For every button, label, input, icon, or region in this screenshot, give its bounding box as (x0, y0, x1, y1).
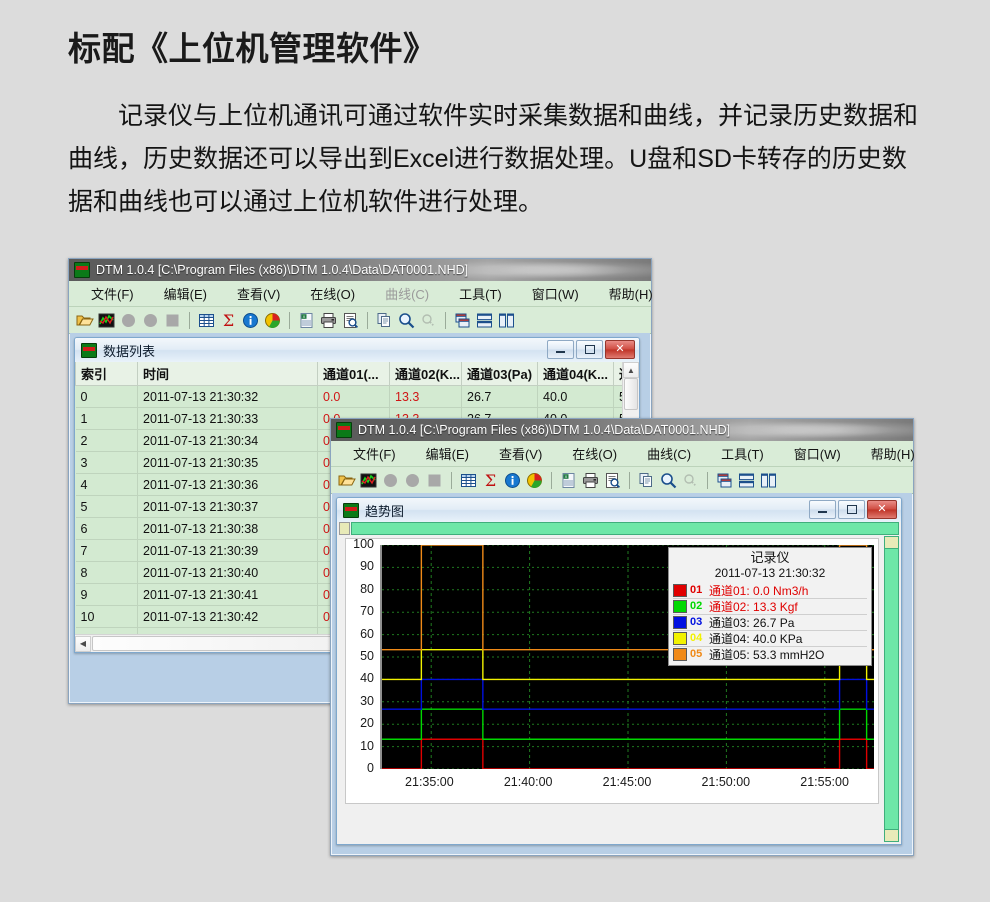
data-list-icon (81, 343, 97, 358)
table-row[interactable]: 02011-07-13 21:30:320.013.326.740.053.3 (76, 386, 623, 408)
row-time: 2011-07-13 21:30:42 (138, 606, 318, 628)
record-start-icon (381, 471, 400, 490)
chart-scroll-top[interactable] (337, 522, 901, 535)
mdi-client-area: 趋势图 ✕ 0102030405060708090100 (332, 493, 912, 854)
trend-chart-icon (343, 503, 359, 518)
chart-vertical-scrollbar[interactable] (884, 536, 899, 842)
svg-text:Σ: Σ (223, 311, 234, 330)
minimize-button[interactable] (809, 500, 836, 519)
row-index: 10 (76, 606, 138, 628)
toolbar-separator (445, 312, 446, 329)
open-file-icon[interactable] (337, 471, 356, 490)
window-titlebar[interactable]: DTM 1.0.4 [C:\Program Files (x86)\DTM 1.… (331, 419, 913, 441)
tool-bar[interactable]: Σ X (331, 467, 913, 494)
sum-sigma-icon[interactable]: Σ (219, 311, 238, 330)
row-time: 2011-07-13 21:30:40 (138, 562, 318, 584)
app-icon (336, 422, 352, 438)
legend-channel-value: 通道02: 13.3 Kgf (709, 598, 798, 615)
record-pause-icon (141, 311, 160, 330)
row-index: 8 (76, 562, 138, 584)
row-time: 2011-07-13 21:30:35 (138, 452, 318, 474)
copy-icon[interactable] (375, 311, 394, 330)
chart-data-icon[interactable] (359, 471, 378, 490)
menu-view[interactable]: 查看(V) (499, 444, 542, 463)
window-title: DTM 1.0.4 [C:\Program Files (x86)\DTM 1.… (96, 263, 468, 277)
mdi-titlebar[interactable]: 数据列表 ✕ (75, 338, 639, 363)
zoom-out-icon (681, 471, 700, 490)
y-tick-label: 100 (348, 537, 374, 551)
record-start-icon (119, 311, 138, 330)
y-tick-label: 30 (348, 694, 374, 708)
legend-channel-value: 通道05: 53.3 mmH2O (709, 646, 824, 663)
app-window-trend[interactable]: DTM 1.0.4 [C:\Program Files (x86)\DTM 1.… (330, 418, 914, 856)
print-preview-icon[interactable] (341, 311, 360, 330)
pie-chart-icon[interactable] (263, 311, 282, 330)
row-time: 2011-07-13 21:30:33 (138, 408, 318, 430)
chart-legend: 记录仪 2011-07-13 21:30:32 01通道01: 0.0 Nm3/… (668, 547, 872, 666)
row-ch02: 13.3 (390, 386, 462, 408)
row-index: 0 (76, 386, 138, 408)
print-icon[interactable] (581, 471, 600, 490)
legend-channel-value: 通道01: 0.0 Nm3/h (709, 582, 808, 599)
row-time: 2011-07-13 21:30:39 (138, 540, 318, 562)
data-table-icon[interactable] (459, 471, 478, 490)
window-controls[interactable]: ✕ (547, 340, 635, 359)
menu-file[interactable]: 文件(F) (353, 444, 396, 463)
row-index: 2 (76, 430, 138, 452)
legend-color-swatch (673, 600, 687, 613)
legend-channel-value: 通道03: 26.7 Pa (709, 614, 794, 631)
titlebar-overlay (468, 259, 651, 281)
window-controls[interactable]: ✕ (809, 500, 897, 519)
menu-online[interactable]: 在线(O) (310, 284, 355, 303)
close-button[interactable]: ✕ (605, 340, 635, 359)
record-pause-icon (403, 471, 422, 490)
tile-horizontal-icon[interactable] (475, 311, 494, 330)
maximize-button[interactable] (838, 500, 865, 519)
mdi-title-text: 数据列表 (103, 341, 155, 360)
col-ch03[interactable]: 通道03(Pa) (462, 362, 538, 386)
mdi-titlebar[interactable]: 趋势图 ✕ (337, 498, 901, 523)
row-time: 2011-07-13 21:30:41 (138, 584, 318, 606)
menu-view[interactable]: 查看(V) (237, 284, 280, 303)
menu-help[interactable]: 帮助(H) (871, 444, 915, 463)
legend-color-swatch (673, 616, 687, 629)
row-index: 3 (76, 452, 138, 474)
legend-channel-number: 04 (690, 632, 706, 644)
toolbar-separator (551, 472, 552, 489)
svg-text:X: X (565, 474, 568, 479)
y-tick-label: 70 (348, 604, 374, 618)
col-ch02[interactable]: 通道02(K... (390, 362, 462, 386)
row-time: 2011-07-13 21:30:36 (138, 474, 318, 496)
legend-row[interactable]: 03通道03: 26.7 Pa (673, 614, 867, 630)
toolbar-separator (451, 472, 452, 489)
mdi-title-text: 趋势图 (365, 501, 404, 520)
y-tick-label: 20 (348, 716, 374, 730)
pie-chart-icon[interactable] (525, 471, 544, 490)
x-tick-label: 21:55:00 (793, 775, 857, 789)
legend-row[interactable]: 02通道02: 13.3 Kgf (673, 598, 867, 614)
menu-curve[interactable]: 曲线(C) (385, 284, 429, 303)
toolbar-separator (629, 472, 630, 489)
cascade-windows-icon[interactable] (715, 471, 734, 490)
chart-scroll-down-cap[interactable] (885, 829, 898, 841)
menu-tools[interactable]: 工具(T) (459, 284, 502, 303)
y-tick-label: 40 (348, 671, 374, 685)
legend-rows: 01通道01: 0.0 Nm3/h02通道02: 13.3 Kgf03通道03:… (673, 583, 867, 662)
row-index: 9 (76, 584, 138, 606)
maximize-button[interactable] (576, 340, 603, 359)
chart-scroll-up-cap[interactable] (885, 537, 898, 549)
page-paragraph: 记录仪与上位机通讯可通过软件实时采集数据和曲线，并记录历史数据和曲线，历史数据还… (68, 95, 918, 224)
minimize-button[interactable] (547, 340, 574, 359)
tile-vertical-icon[interactable] (497, 311, 516, 330)
close-button[interactable]: ✕ (867, 500, 897, 519)
toolbar-separator (367, 312, 368, 329)
legend-channel-number: 01 (690, 584, 706, 596)
legend-channel-number: 03 (690, 616, 706, 628)
y-tick-label: 50 (348, 649, 374, 663)
col-ch04[interactable]: 通道04(K... (538, 362, 614, 386)
x-tick-label: 21:45:00 (595, 775, 659, 789)
record-stop-icon (163, 311, 182, 330)
row-index: 1 (76, 408, 138, 430)
tile-vertical-icon[interactable] (759, 471, 778, 490)
menu-bar[interactable]: 文件(F) 编辑(E) 查看(V) 在线(O) 曲线(C) 工具(T) 窗口(W… (331, 441, 913, 467)
plot-frame: 0102030405060708090100 21:35:0021:40:002… (345, 538, 879, 804)
app-icon (74, 262, 90, 278)
zoom-in-icon[interactable] (397, 311, 416, 330)
legend-row[interactable]: 05通道05: 53.3 mmH2O (673, 646, 867, 662)
col-index[interactable]: 索引 (76, 362, 138, 386)
x-tick-label: 21:40:00 (496, 775, 560, 789)
menu-edit[interactable]: 编辑(E) (164, 284, 207, 303)
row-index: 6 (76, 518, 138, 540)
scroll-left-arrow[interactable]: ◀ (75, 636, 91, 652)
menu-bar[interactable]: 文件(F) 编辑(E) 查看(V) 在线(O) 曲线(C) 工具(T) 窗口(W… (69, 281, 651, 307)
col-ch05[interactable]: 通道05(... (614, 362, 623, 386)
info-icon[interactable] (503, 471, 522, 490)
scroll-up-arrow[interactable]: ▲ (623, 362, 639, 378)
titlebar-overlay (730, 419, 913, 441)
row-index: 7 (76, 540, 138, 562)
y-tick-label: 0 (348, 761, 374, 775)
menu-file[interactable]: 文件(F) (91, 284, 134, 303)
row-time: 2011-07-13 21:30:37 (138, 496, 318, 518)
menu-window[interactable]: 窗口(W) (532, 284, 579, 303)
copy-icon[interactable] (637, 471, 656, 490)
open-file-icon[interactable] (75, 311, 94, 330)
menu-tools[interactable]: 工具(T) (721, 444, 764, 463)
zoom-out-icon (419, 311, 438, 330)
menu-curve[interactable]: 曲线(C) (647, 444, 691, 463)
legend-channel-number: 05 (690, 648, 706, 660)
y-tick-label: 10 (348, 739, 374, 753)
chart-horizontal-scrollbar[interactable] (351, 522, 899, 535)
export-excel-icon[interactable]: X (297, 311, 316, 330)
svg-text:X: X (303, 314, 306, 319)
legend-channel-number: 02 (690, 600, 706, 612)
chart-data-icon[interactable] (97, 311, 116, 330)
tool-bar[interactable]: Σ X (69, 307, 651, 334)
data-table-icon[interactable] (197, 311, 216, 330)
row-index: 5 (76, 496, 138, 518)
zoom-in-icon[interactable] (659, 471, 678, 490)
row-ch04: 40.0 (538, 386, 614, 408)
x-tick-label: 21:35:00 (397, 775, 461, 789)
legend-row[interactable]: 04通道04: 40.0 KPa (673, 630, 867, 646)
print-icon[interactable] (319, 311, 338, 330)
legend-color-swatch (673, 648, 687, 661)
menu-window[interactable]: 窗口(W) (794, 444, 841, 463)
toolbar-separator (289, 312, 290, 329)
row-ch05: 53.3 (614, 386, 623, 408)
scroll-thumb[interactable] (624, 378, 638, 410)
legend-title: 记录仪 (673, 550, 867, 566)
row-time: 2011-07-13 21:30:38 (138, 518, 318, 540)
legend-color-swatch (673, 584, 687, 597)
y-tick-label: 90 (348, 559, 374, 573)
x-tick-label: 21:50:00 (694, 775, 758, 789)
svg-text:Σ: Σ (485, 471, 496, 490)
legend-color-swatch (673, 632, 687, 645)
legend-timestamp: 2011-07-13 21:30:32 (673, 566, 867, 582)
menu-online[interactable]: 在线(O) (572, 444, 617, 463)
sum-sigma-icon[interactable]: Σ (481, 471, 500, 490)
page-title: 标配《上位机管理软件》 (68, 28, 918, 69)
info-icon[interactable] (241, 311, 260, 330)
chart-scroll-cap (339, 522, 350, 535)
record-stop-icon (425, 471, 444, 490)
row-index: 4 (76, 474, 138, 496)
row-ch03: 26.7 (462, 386, 538, 408)
col-ch01[interactable]: 通道01(... (318, 362, 390, 386)
window-title: DTM 1.0.4 [C:\Program Files (x86)\DTM 1.… (358, 423, 730, 437)
toolbar-separator (707, 472, 708, 489)
chart-pane: 0102030405060708090100 21:35:0021:40:002… (337, 522, 901, 844)
export-excel-icon[interactable]: X (559, 471, 578, 490)
row-time: 2011-07-13 21:30:32 (138, 386, 318, 408)
row-time: 2011-07-13 21:30:34 (138, 430, 318, 452)
menu-edit[interactable]: 编辑(E) (426, 444, 469, 463)
toolbar-separator (189, 312, 190, 329)
menu-help[interactable]: 帮助(H) (609, 284, 653, 303)
legend-row[interactable]: 01通道01: 0.0 Nm3/h (673, 583, 867, 598)
y-tick-label: 60 (348, 627, 374, 641)
y-tick-label: 80 (348, 582, 374, 596)
window-titlebar[interactable]: DTM 1.0.4 [C:\Program Files (x86)\DTM 1.… (69, 259, 651, 281)
row-ch01: 0.0 (318, 386, 390, 408)
tile-horizontal-icon[interactable] (737, 471, 756, 490)
col-time[interactable]: 时间 (138, 362, 318, 386)
cascade-windows-icon[interactable] (453, 311, 472, 330)
table-header-row: 索引 时间 通道01(... 通道02(K... 通道03(Pa) 通道04(K… (76, 362, 623, 386)
article-block: 标配《上位机管理软件》 记录仪与上位机通讯可通过软件实时采集数据和曲线，并记录历… (68, 28, 918, 224)
legend-channel-value: 通道04: 40.0 KPa (709, 630, 802, 647)
print-preview-icon[interactable] (603, 471, 622, 490)
mdi-window-trend-chart[interactable]: 趋势图 ✕ 0102030405060708090100 (336, 497, 902, 845)
